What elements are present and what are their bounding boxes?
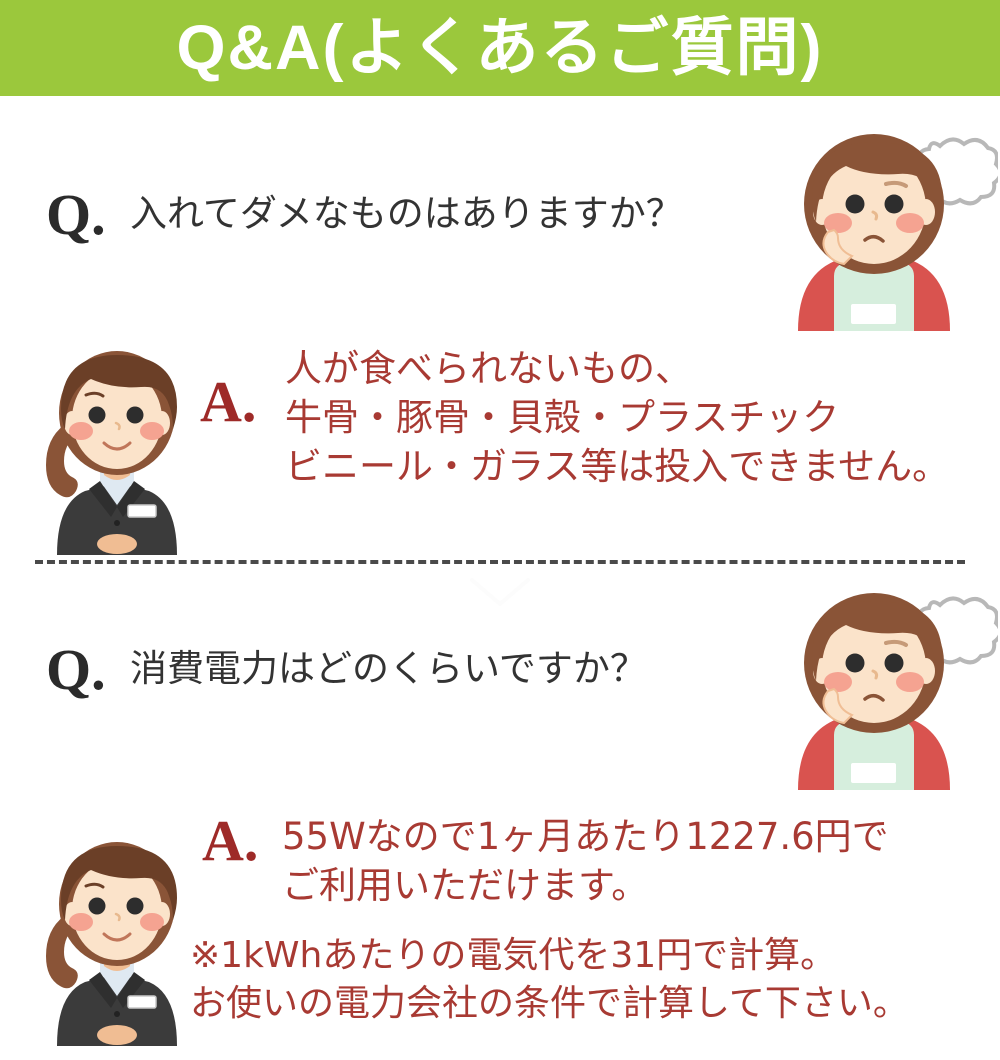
question-mark-1: Q. xyxy=(46,186,106,244)
answer-line: 人が食べられないもの、 xyxy=(285,344,949,393)
answer-notes-2: ※1kWhあたりの電気代を31円で計算。 お使いの電力会社の条件で計算して下さい… xyxy=(190,932,909,1028)
answer-lines-2: 55Wなので1ヶ月あたり1227.6円で ご利用いただけます。 xyxy=(282,812,889,910)
page-title: Q&A(よくあるご質問) xyxy=(177,17,824,80)
header-banner: Q&A(よくあるご質問) xyxy=(0,0,1000,96)
answer-line: ご利用いただけます。 xyxy=(282,861,889,910)
staff-woman-illustration-1 xyxy=(24,333,209,555)
answer-mark-2: A. xyxy=(202,812,258,870)
section-divider xyxy=(35,560,965,564)
answer-line: ビニール・ガラス等は投入できません。 xyxy=(285,442,949,491)
answer-lines-1: 人が食べられないもの、 牛骨・豚骨・貝殻・プラスチック ビニール・ガラス等は投入… xyxy=(285,344,949,492)
answer-line: 牛骨・豚骨・貝殻・プラスチック xyxy=(285,393,949,442)
puzzled-woman-illustration-1 xyxy=(768,126,998,331)
question-text-1: 入れてダメなものはありますか？ xyxy=(130,191,683,237)
answer-note: ※1kWhあたりの電気代を31円で計算。 xyxy=(190,932,909,980)
answer-note: お使いの電力会社の条件で計算して下さい。 xyxy=(190,980,909,1028)
staff-woman-illustration-2 xyxy=(24,824,209,1046)
question-text-2: 消費電力はどのくらいですか？ xyxy=(130,646,647,692)
answer-line: 55Wなので1ヶ月あたり1227.6円で xyxy=(282,812,889,861)
infographic-page: Q&A(よくあるご質問) Q. 入れてダメなものはありますか？ xyxy=(0,0,1000,1060)
chevron-down-icon xyxy=(470,578,530,608)
puzzled-woman-illustration-2 xyxy=(768,585,998,790)
question-mark-2: Q. xyxy=(46,641,106,699)
